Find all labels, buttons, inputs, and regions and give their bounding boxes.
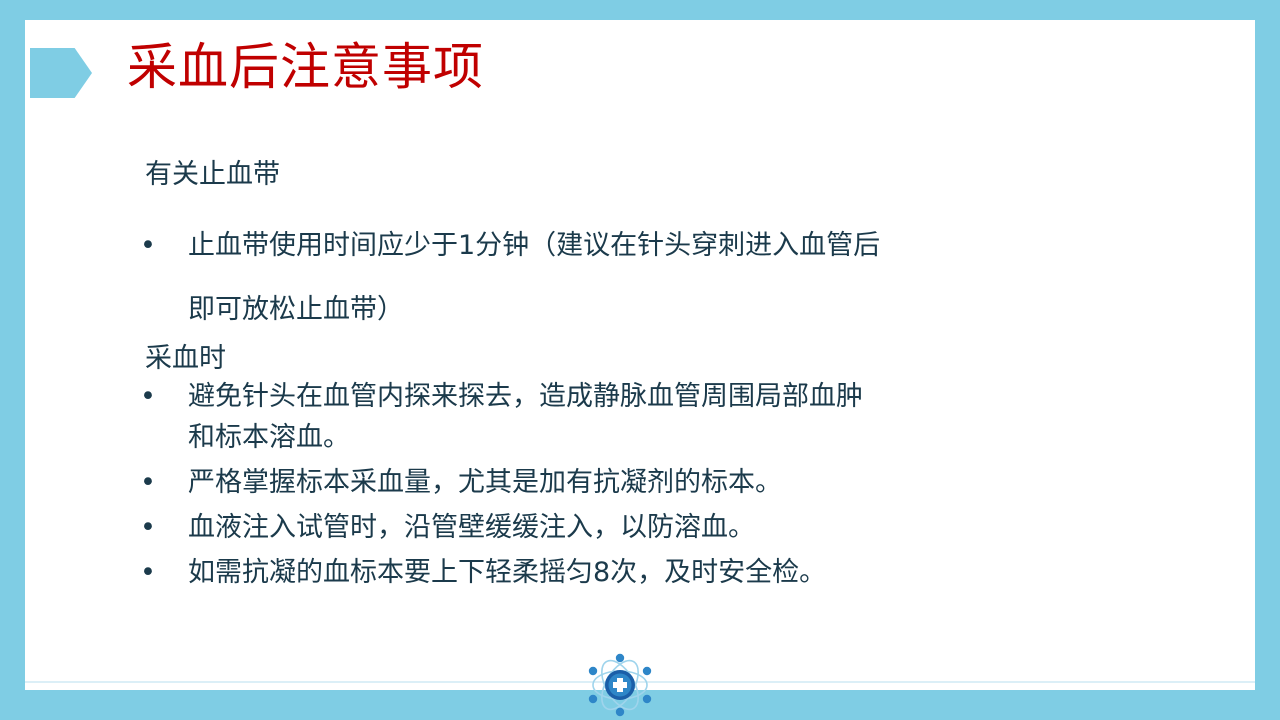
list-item: • 止血带使用时间应少于1分钟（建议在针头穿刺进入血管后 [140, 214, 1140, 278]
section-two-list: • 避免针头在血管内探来探去，造成静脉血管周围局部血肿 和标本溶血。 • 严格掌… [140, 376, 1140, 593]
table-row: • 避免针头在血管内探来探去，造成静脉血管周围局部血肿 [140, 376, 1140, 417]
section-two-heading: 采血时 [145, 342, 1140, 376]
bullet-marker: • [140, 507, 188, 548]
title-arrow-icon [30, 48, 92, 98]
section-one-heading: 有关止血带 [145, 158, 1140, 192]
list-item-continuation: 即可放松止血带） [188, 278, 1140, 342]
bullet-marker: • [140, 376, 188, 417]
spacer [140, 192, 1140, 214]
table-row: • 血液注入试管时，沿管壁缓缓注入，以防溶血。 [140, 507, 1140, 548]
bullet-marker: • [140, 462, 188, 503]
table-row: • 严格掌握标本采血量，尤其是加有抗凝剂的标本。 [140, 462, 1140, 503]
medical-molecule-icon [584, 650, 656, 720]
slide-canvas: 采血后注意事项 有关止血带 • 止血带使用时间应少于1分钟（建议在针头穿刺进入血… [0, 0, 1280, 720]
list-item-label: 如需抗凝的血标本要上下轻柔摇匀8次，及时安全检。 [188, 552, 1140, 593]
list-item-continuation: 和标本溶血。 [188, 417, 1140, 458]
table-row: • 如需抗凝的血标本要上下轻柔摇匀8次，及时安全检。 [140, 552, 1140, 593]
bullet-marker: • [140, 552, 188, 593]
slide-body: 有关止血带 • 止血带使用时间应少于1分钟（建议在针头穿刺进入血管后 即可放松止… [140, 158, 1140, 593]
list-item-label: 血液注入试管时，沿管壁缓缓注入，以防溶血。 [188, 507, 1140, 548]
list-item-label: 严格掌握标本采血量，尤其是加有抗凝剂的标本。 [188, 462, 1140, 503]
list-item-label: 止血带使用时间应少于1分钟（建议在针头穿刺进入血管后 [188, 214, 1140, 278]
bullet-marker: • [140, 214, 188, 278]
list-item-label: 避免针头在血管内探来探去，造成静脉血管周围局部血肿 [188, 376, 1140, 417]
page-title: 采血后注意事项 [127, 34, 484, 100]
slide-header: 采血后注意事项 [0, 0, 1280, 130]
